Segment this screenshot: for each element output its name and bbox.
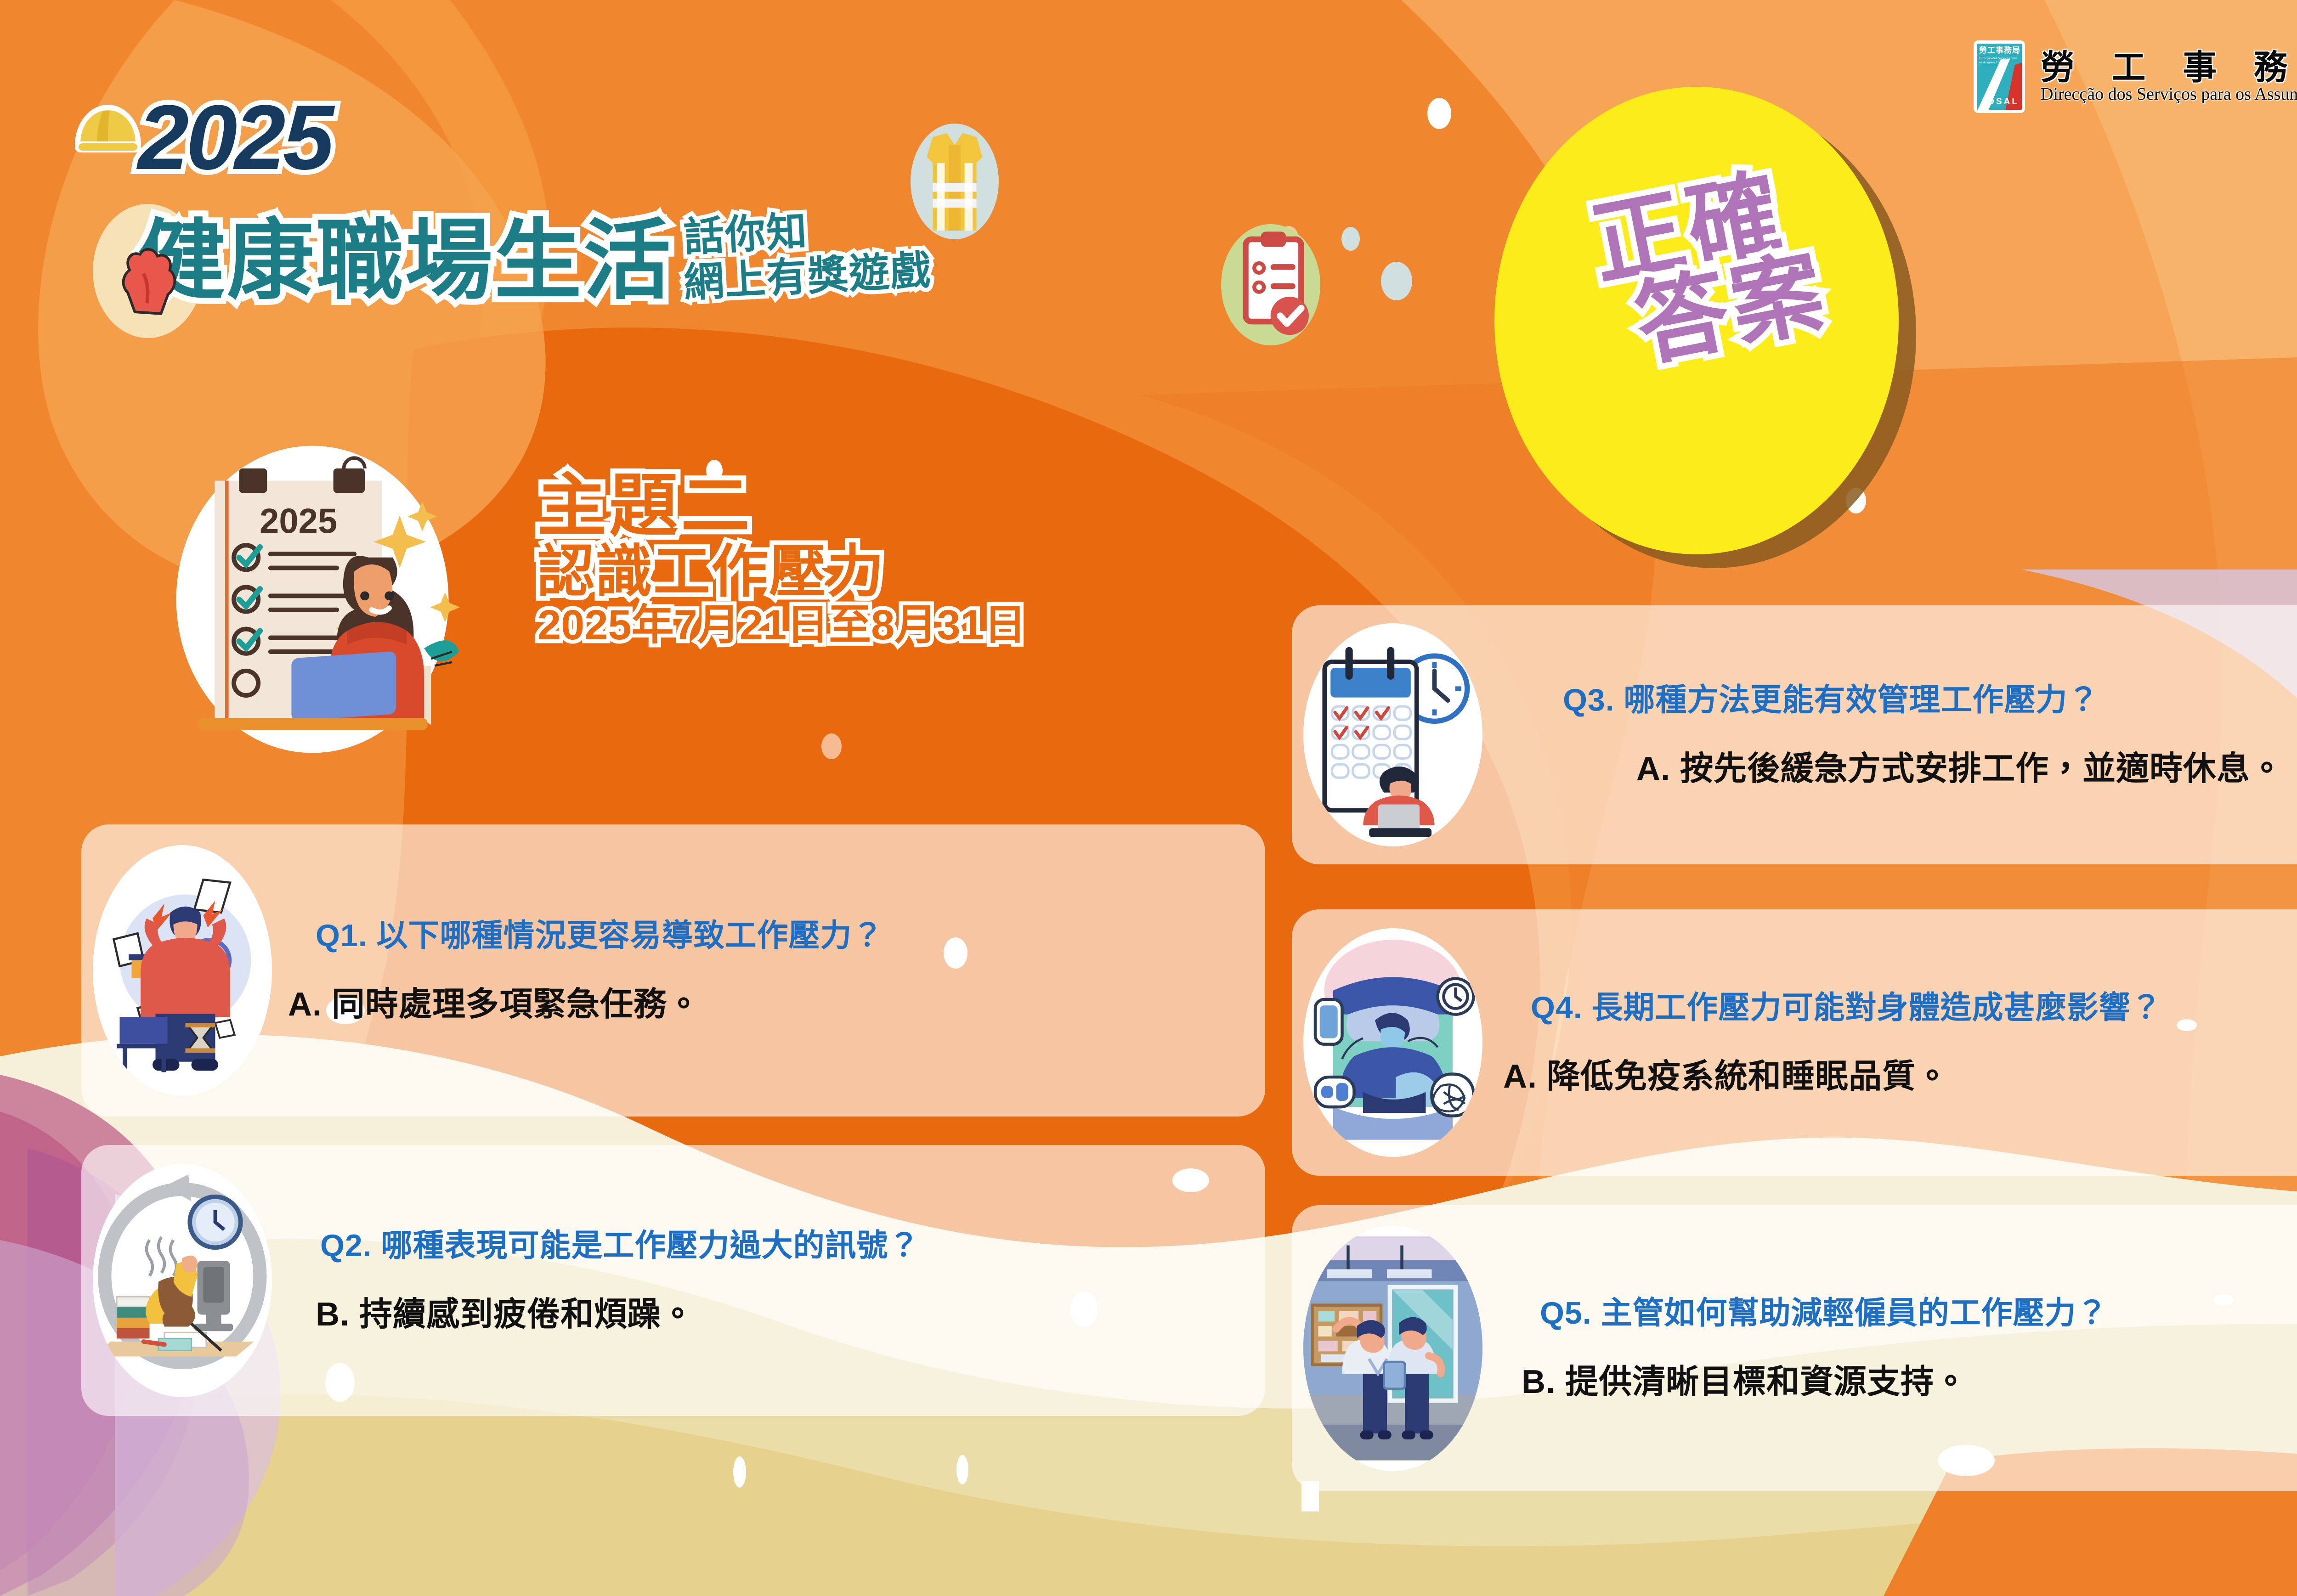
correct-answer-badge: 正確 答案 [1494,87,1899,554]
dsal-emblem-icon: 勞工事務局 Direcção dos Serviços para os Assu… [1974,40,2025,113]
theme-illustration: 2025 [138,441,487,758]
qa-card-q5[interactable]: Q5. 主管如何幫助減輕僱員的工作壓力？ B. 提供清晰目標和資源支持。 [1292,1205,2297,1491]
qa-card-q1[interactable]: Q1. 以下哪種情況更容易導致工作壓力？ A. 同時處理多項緊急任務。 [81,824,1265,1117]
qa-answer-q4: A. 降低免疫系統和睡眠品質。 [1494,1056,2297,1097]
glove-icon [103,235,191,322]
qa-card-q4[interactable]: Q4. 長期工作壓力可能對身體造成甚麼影響？ A. 降低免疫系統和睡眠品質。 [1292,909,2297,1176]
safety-vest-icon [904,123,1005,243]
hardhat-icon [62,80,154,177]
qa-illustration-q2 [81,1145,283,1416]
qa-card-q3[interactable]: Q3. 哪種方法更能有效管理工作壓力？ A. 按先後緩急方式安排工作，並適時休息… [1292,605,2297,864]
manager-briefing-icon [1303,1225,1482,1472]
dsal-name-cn: 勞 工 事 務 局 [2041,51,2297,85]
dsal-emblem-abbr: DSAL [1977,97,2019,107]
dsal-name-pt: Direcção dos Serviços para os Assuntos L… [2041,85,2297,103]
page-title-main-wrap: 健康職場生活 話你知 網上有獎遊戲 [138,209,932,305]
calendar-clock-icon [1303,623,1482,846]
qa-question-q1: Q1. 以下哪種情況更容易導致工作壓力？ [283,916,1242,955]
checklist-icon [1224,228,1325,343]
qa-answer-q2: B. 持續感到疲倦和煩躁。 [283,1294,1242,1335]
qa-card-q2[interactable]: Q2. 哪種表現可能是工作壓力過大的訊號？ B. 持續感到疲倦和煩躁。 [81,1145,1265,1416]
qa-answer-q3: A. 按先後緩急方式安排工作，並適時休息。 [1494,748,2297,790]
qa-question-q4: Q4. 長期工作壓力可能對身體造成甚麼影響？ [1494,988,2297,1027]
dsal-logo: 勞工事務局 Direcção dos Serviços para os Assu… [1974,33,2297,120]
theme-name: 認識工作壓力 [537,540,1026,604]
qa-question-q5: Q5. 主管如何幫助減輕僱員的工作壓力？ [1494,1294,2297,1333]
theme-period: 2025年7月21日至8月31日 [537,602,1026,649]
svg-text:2025: 2025 [260,502,337,541]
qa-illustration-q5 [1292,1205,1494,1491]
dsal-emblem-cn: 勞工事務局 [1979,46,2020,54]
theme-label: 主題二 [537,468,1026,543]
dsal-emblem-pt: Direcção dos Serviços para os Assuntos L… [1979,56,2020,64]
page-title-main: 健康職場生活 [138,217,673,305]
insomnia-icon [1303,928,1482,1157]
qa-illustration-q4 [1292,909,1494,1176]
page-title-year-wrap: 2025 [138,92,331,184]
exhausted-person-icon [93,1164,272,1397]
qa-answer-q5: B. 提供清晰目標和資源支持。 [1494,1361,2297,1403]
qa-answer-q1: A. 同時處理多項緊急任務。 [283,984,1242,1025]
qa-question-q3: Q3. 哪種方法更能有效管理工作壓力？ [1494,681,2297,720]
qa-illustration-q3 [1292,605,1494,864]
qa-question-q2: Q2. 哪種表現可能是工作壓力過大的訊號？ [283,1226,1242,1265]
qa-illustration-q1 [81,824,283,1117]
theme-block: 主題二 認識工作壓力 2025年7月21日至8月31日 [537,468,1026,649]
page-title-year: 2025 [138,92,331,184]
stressed-person-icon [93,845,272,1096]
